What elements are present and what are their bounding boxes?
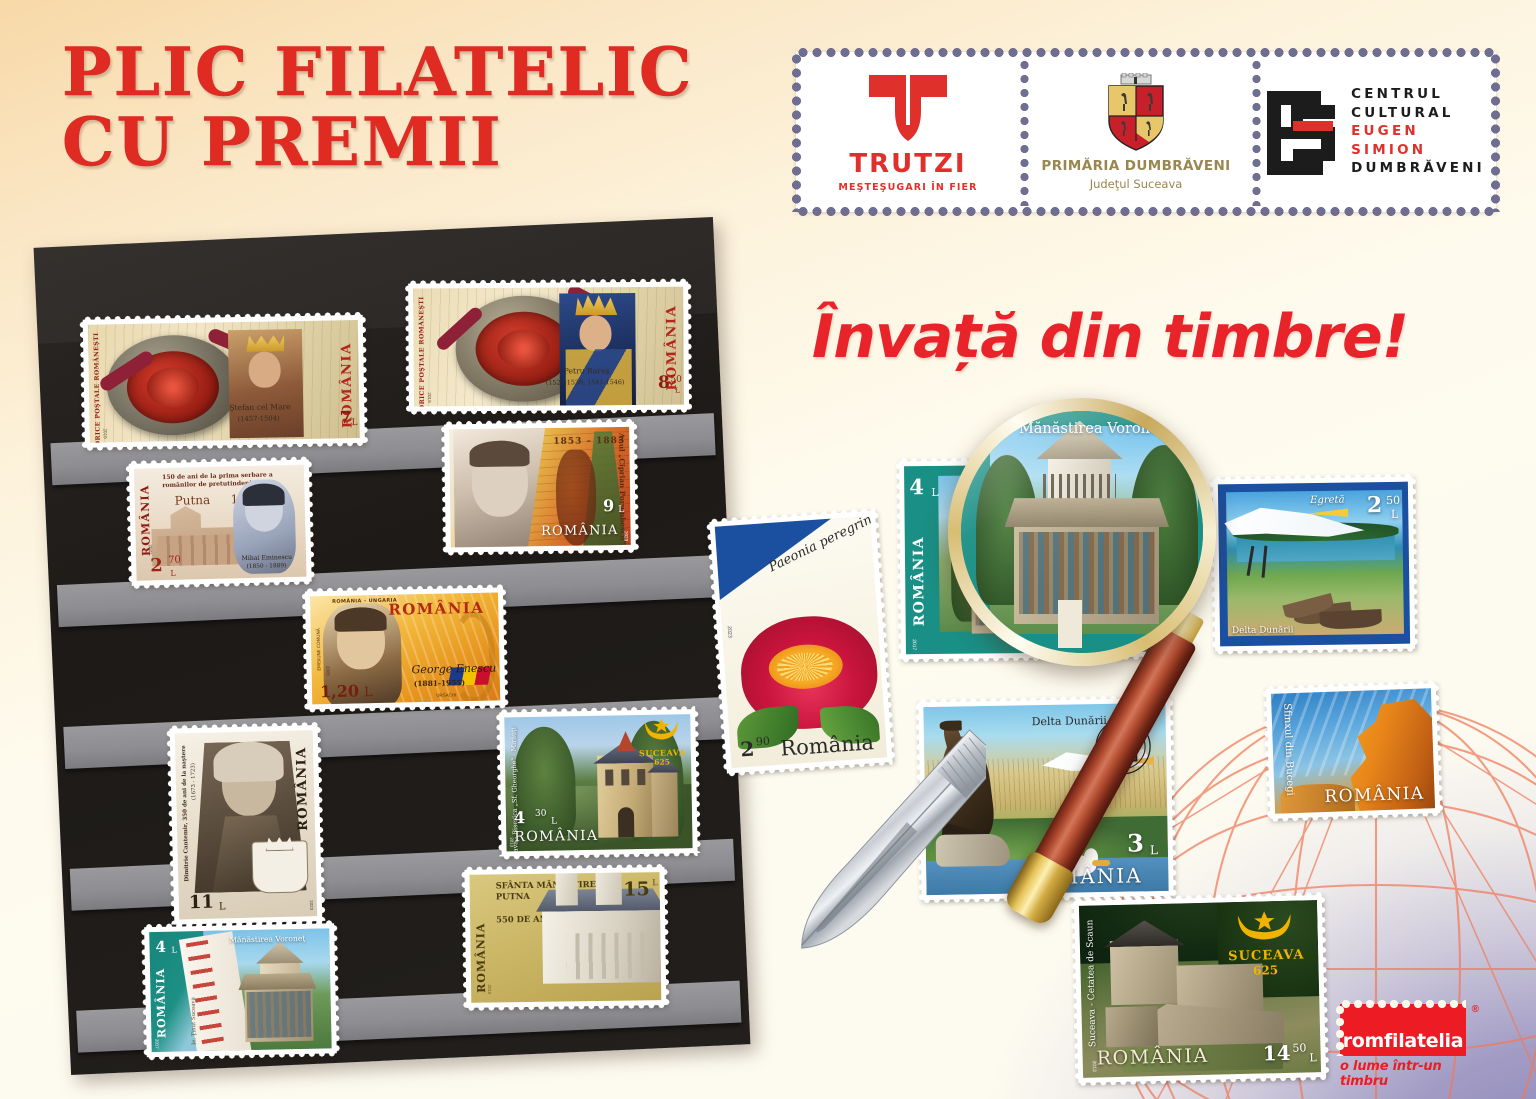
cc-line-1: CENTRUL (1351, 87, 1485, 103)
stamp-dates: (1527-1538; 1541-1546) (546, 378, 625, 387)
stamp-country: ROMÂNIA (1324, 784, 1425, 807)
romfilatelia-wordmark: romfilatelia (1343, 1030, 1464, 1052)
stamp-stefan-cel-mare[interactable]: ŞTIRI ISTORICE POŞTALE ROMÂNEŞTI ROMÂNIA… (83, 315, 365, 448)
stamp-dates: (1673 - 1723) (190, 763, 197, 800)
stamp-currency: L (172, 946, 177, 955)
romfilatelia-badge: romfilatelia ® (1340, 1004, 1466, 1056)
registered-trademark-icon: ® (1472, 1004, 1479, 1015)
tagline: Învață din timbre! (800, 302, 1420, 372)
stamp-sfinxul-din-bucegi[interactable]: Sfinxul din Bucegi ROMÂNIA (1266, 683, 1440, 819)
stamp-series-label: ŞTIRI ISTORICE POŞTALE ROMÂNEŞTI (418, 296, 426, 406)
stamp-currency: L (931, 486, 938, 499)
stamp-title: Mihai Eminescu (241, 554, 292, 562)
stamp-value: 9 (603, 496, 614, 515)
page-title-line-2: CU PREMII (62, 108, 693, 178)
cc-line-2: CULTURAL (1351, 106, 1485, 122)
stamp-value: 3 (1127, 828, 1144, 857)
stamp-petru-rares[interactable]: ŞTIRI ISTORICE POŞTALE ROMÂNEŞTI ROMÂNIA… (408, 282, 689, 412)
stamp-year: 2019 (103, 428, 108, 438)
stamp-year: 2017 (154, 1039, 159, 1049)
suceava-625-emblem-icon: SUCEAVA 625 (1227, 911, 1302, 975)
stamp-value: 4 (514, 808, 525, 827)
stamp-cents: 50 (670, 375, 682, 385)
stamp-currency: L (1391, 508, 1398, 521)
stamp-tweezers[interactable] (726, 724, 986, 1044)
stamp-currency: L (551, 817, 557, 827)
stamp-currency: L (1309, 1051, 1317, 1064)
stamp-currency: L (1150, 843, 1158, 857)
logo-centrul-cultural-eugen-simion[interactable]: CENTRUL CULTURAL EUGEN SIMION DUMBRĂVENI (1252, 52, 1496, 212)
stamp-cents: 50 (1292, 1041, 1306, 1054)
stamp-country: ROMÂNIA (514, 828, 598, 845)
dumbraveni-coat-of-arms-icon (1103, 73, 1169, 153)
stamp-year: 2023 (726, 626, 733, 638)
stamp-ciprian-porumbescu[interactable]: 1853 – 1883 Anul „Ciprian Porumbescu" 9 … (444, 422, 636, 553)
stamp-subtitle: Ie, Ţinut Suceava (191, 997, 198, 1045)
stamp-dates: (1850 - 1889) (247, 563, 287, 570)
suceava-emblem-number: 625 (1228, 962, 1302, 978)
stamp-currency: L (652, 878, 657, 887)
stamp-year: 2017 (911, 639, 917, 650)
stamp-egreta-delta-dunarii[interactable]: Egretă 2 50 L Delta Dunării (1213, 477, 1415, 652)
stamp-emission: EMISIUNE COMUNĂ (317, 628, 323, 671)
magnified-stamp-title: Mănăstirea Voroneţ (1005, 421, 1179, 437)
cc-line-3: EUGEN (1351, 124, 1485, 140)
stamp-dates: (1881-1955) (414, 678, 465, 688)
stamp-value: 11 (189, 892, 215, 914)
primaria-subtitle: Judeţul Suceava (1090, 177, 1183, 191)
stamp-year: 2019 (427, 392, 432, 402)
romfilatelia-tagline: o lume într-un timbru (1340, 1059, 1490, 1089)
suceava-emblem-label: SUCEAVA (639, 747, 685, 758)
page-title: PLIC FILATELIC CU PREMII (62, 38, 693, 178)
stamp-currency: L (219, 901, 226, 912)
stamp-year: 2016 (487, 985, 492, 995)
stamp-year: 2013 (509, 837, 514, 847)
stamp-album-page: ŞTIRI ISTORICE POŞTALE ROMÂNEŞTI ROMÂNIA… (34, 217, 751, 1075)
stamp-country: ROMÂNIA (911, 536, 928, 626)
cc-line-4: SIMION (1351, 143, 1485, 159)
stamp-value: 14 (1262, 1041, 1290, 1066)
stamp-year: 2013 (1091, 1060, 1097, 1071)
stamp-title: Anul „Ciprian Porumbescu" (617, 433, 628, 545)
stamp-designer: URSACHI (436, 692, 456, 697)
stamp-title: George Enescu (411, 662, 496, 677)
suceava-emblem-label: SUCEAVA (1228, 947, 1302, 964)
stamp-biserica-sf-gheorghe-mirauti[interactable]: SUCEAVA 625 Suceava - Biserica „Sf. Gheo… (499, 709, 697, 856)
suceava-emblem-number: 625 (639, 757, 685, 767)
stamp-year: 2023 (624, 531, 629, 541)
sponsor-logo-strip: TRUTZI MEŞTEŞUGARI ÎN FIER (796, 52, 1496, 212)
stamp-manastirea-voronet-album[interactable]: Mănăstirea Voroneţ 4 L ROMÂNIA Ie, Ţinut… (144, 923, 337, 1057)
page-title-line-1: PLIC FILATELIC (62, 38, 693, 108)
stamp-cents: 30 (535, 809, 547, 819)
stamp-title: Mănăstirea Voroneţ (229, 934, 305, 945)
stamp-cents: 50 (1386, 494, 1400, 507)
stamp-place: Putna (175, 493, 211, 508)
stamp-value: 4 (909, 474, 924, 499)
logo-trutzi[interactable]: TRUTZI MEŞTEŞUGARI ÎN FIER (796, 52, 1020, 212)
stamp-year: 2023 (309, 900, 314, 910)
stamp-value: 8 (658, 373, 670, 393)
trutzi-name: TRUTZI (849, 149, 966, 179)
logo-primaria-dumbraveni[interactable]: PRIMĂRIA DUMBRĂVENI Judeţul Suceava (1020, 52, 1252, 212)
trutzi-subtitle: MEŞTEŞUGARI ÎN FIER (838, 182, 977, 193)
stamp-value: 15 (623, 878, 650, 900)
magnifier-lens: Mănăstirea Voroneţ (961, 411, 1203, 653)
stamp-caption: Delta Dunării (1232, 625, 1294, 636)
stamp-title: Dimitrie Cantemir, 350 de ani de la naşt… (181, 745, 190, 881)
stamp-cents: 70 (168, 555, 181, 566)
stamp-mihai-eminescu[interactable]: 150 de ani de la prima serbare a românil… (129, 459, 312, 585)
stamp-dimitrie-cantemir[interactable]: Dimitrie Cantemir, 350 de ani de la naşt… (170, 725, 323, 925)
stamp-title: Egretă (1310, 495, 1345, 506)
stamp-title: Petru Rareş (564, 366, 610, 375)
trutzi-t-mark-icon (865, 71, 951, 143)
stamp-value: 2 (150, 555, 163, 576)
stamp-country: ROMÂNIA (1096, 1045, 1209, 1070)
stamp-country: ROMÂNIA (294, 746, 311, 831)
stamp-currency: L (618, 505, 624, 515)
stamp-value: 4 (155, 938, 166, 956)
stamp-cetatea-de-scaun[interactable]: SUCEAVA 625 Suceava - Cetatea de Scaun R… (1074, 895, 1326, 1083)
stamp-currency: L (170, 569, 176, 578)
stamp-dates: 1853 – 1883 (553, 436, 625, 447)
magnifying-glass[interactable]: Mănăstirea Voroneţ (948, 398, 1216, 666)
cc-line-5: DUMBRĂVENI (1351, 161, 1485, 177)
stamp-country: ROMÂNIA (474, 922, 488, 992)
stamp-value: 7 (339, 408, 351, 428)
stamp-year: 2021 (148, 544, 153, 554)
suceava-625-emblem-icon: SUCEAVA 625 (638, 718, 685, 761)
primaria-name: PRIMĂRIA DUMBRĂVENI (1041, 158, 1230, 174)
stamp-currency: L (351, 418, 357, 428)
stamp-george-enescu[interactable]: ROMÂNIA ROMÂNIA - UNGARIA EMISIUNE COMUN… (305, 587, 505, 709)
stamp-year: 2006 (325, 666, 330, 676)
stamp-currency: L (364, 685, 373, 700)
stamp-title: Ştefan cel Mare (229, 402, 291, 412)
stamp-dates: (1457-1504) (237, 414, 279, 423)
eugen-simion-es-monogram-icon (1263, 87, 1339, 177)
romfilatelia-logo[interactable]: romfilatelia ® o lume într-un timbru (1340, 1004, 1490, 1089)
stamp-value: 1,20 (320, 681, 359, 701)
stamp-country: ROMÂNIA (154, 968, 168, 1038)
stamp-manastirea-putna[interactable]: SFÂNTA MĂNĂSTIRE PUTNA 550 DE ANI 15 L R… (464, 867, 666, 1008)
stamp-country: ROMÂNIA (541, 523, 619, 539)
stamp-country: ROMÂNIA (388, 599, 484, 619)
stamp-currency: L (675, 387, 680, 395)
stamp-value: 2 (1367, 492, 1383, 518)
